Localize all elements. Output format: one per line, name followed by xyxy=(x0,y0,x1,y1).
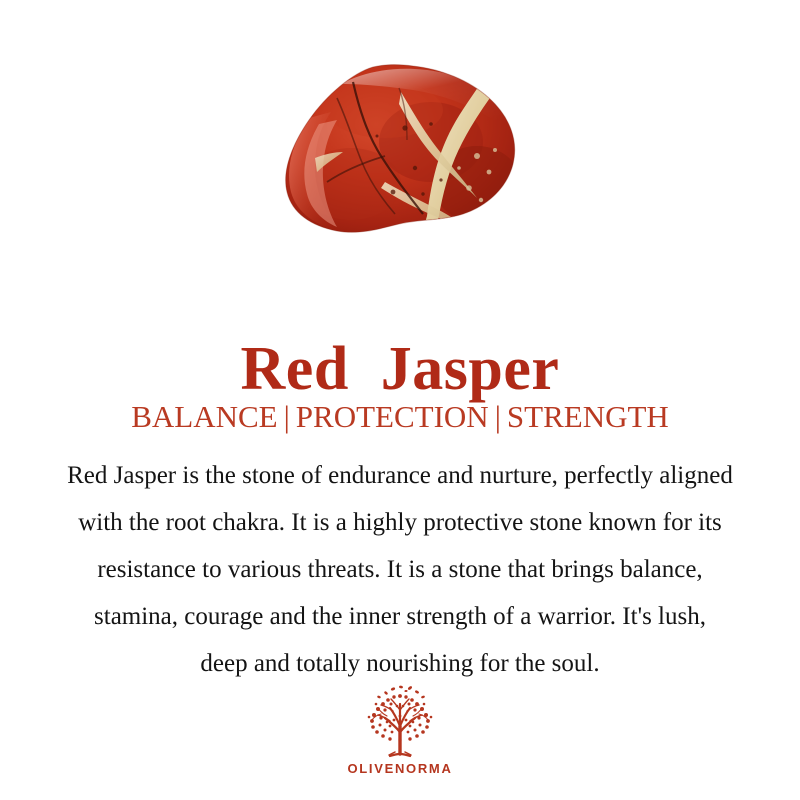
description-line: stamina, courage and the inner strength … xyxy=(8,593,792,640)
product-image xyxy=(0,58,800,248)
brand-name: OLIVENORMA xyxy=(347,761,452,777)
keyword-protection: PROTECTION xyxy=(296,399,489,434)
red-jasper-stone-icon xyxy=(281,64,519,242)
description-line: resistance to various threats. It is a s… xyxy=(8,546,792,593)
product-description: Red Jasper is the stone of endurance and… xyxy=(8,452,792,687)
product-keywords: BALANCE|PROTECTION|STRENGTH xyxy=(0,398,800,436)
keyword-strength: STRENGTH xyxy=(507,399,669,434)
description-line: with the root chakra. It is a highly pro… xyxy=(8,499,792,546)
keyword-separator: | xyxy=(278,398,296,436)
tree-of-life-icon xyxy=(357,684,443,758)
description-line: deep and totally nourishing for the soul… xyxy=(8,640,792,687)
description-line: Red Jasper is the stone of endurance and… xyxy=(8,452,792,499)
page-title: Red Jasper xyxy=(0,334,800,404)
product-info-card: Red Jasper BALANCE|PROTECTION|STRENGTH R… xyxy=(0,0,800,800)
keyword-balance: BALANCE xyxy=(131,399,277,434)
brand-logo: OLIVENORMA xyxy=(0,684,800,777)
keyword-separator: | xyxy=(489,398,507,436)
